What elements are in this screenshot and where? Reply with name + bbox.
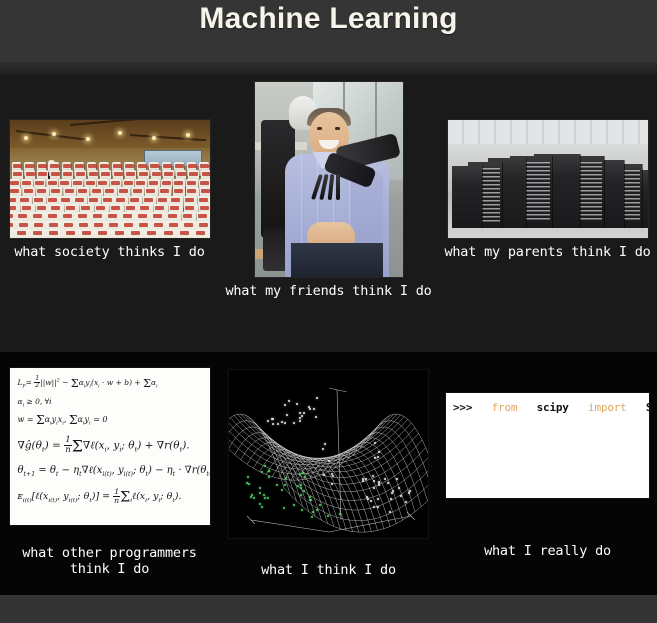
data-point <box>377 498 379 500</box>
data-point <box>365 478 367 480</box>
panel-row-bottom: LP= 12||w||2 − Σαiyi(xi · w + b) + Σαi α… <box>0 352 657 596</box>
robot-unit <box>179 229 195 238</box>
data-point <box>303 412 305 414</box>
ceiling-lamp <box>118 131 122 135</box>
equation-alpha-constraint: αi ≥ 0, ∀i <box>18 397 204 409</box>
panel-friends: what my friends think I do <box>219 76 438 338</box>
server-rack <box>452 166 482 228</box>
data-point <box>331 483 333 485</box>
data-point <box>264 497 266 499</box>
data-point <box>374 442 376 444</box>
data-point <box>373 506 375 508</box>
data-point <box>303 490 305 492</box>
header-gradient <box>0 62 657 76</box>
equation-sgd-update: θt+1 = θt − ηt∇ℓ(xi(t), yi(t); θt) − ηt … <box>18 465 204 478</box>
data-point <box>409 490 411 492</box>
data-point <box>263 494 265 496</box>
summation-sign: Σ <box>36 414 44 428</box>
data-point <box>377 506 379 508</box>
equation-list: LP= 12||w||2 − Σαiyi(xi · w + b) + Σαi α… <box>18 376 204 505</box>
summation-sign: Σ <box>72 436 83 455</box>
data-point <box>293 504 295 506</box>
data-point <box>299 473 301 475</box>
mesh-line <box>241 414 397 458</box>
ceiling-lamp <box>24 136 28 140</box>
data-point <box>302 472 304 474</box>
data-point <box>315 416 317 418</box>
panel-other-programmers: LP= 12||w||2 − Σαiyi(xi · w + b) + Σαi α… <box>0 352 219 596</box>
robot-unit <box>114 229 130 238</box>
hyperplane-mesh <box>229 414 428 532</box>
panel-row-top: what society thinks I do <box>0 76 657 338</box>
ceiling-lamp <box>86 137 90 141</box>
man-jeans <box>291 243 383 277</box>
console-code-line: >>> from scipy import SVM <box>453 401 649 414</box>
panel-society-image <box>10 120 210 238</box>
data-point <box>367 498 369 500</box>
data-point <box>391 492 393 494</box>
panel-parents-image <box>448 120 648 238</box>
python-console: >>> from scipy import SVM <box>446 393 649 498</box>
robot-unit <box>195 229 209 238</box>
data-point <box>389 511 391 513</box>
header-band: Machine Learning <box>0 0 657 62</box>
data-point <box>323 474 325 476</box>
robot-unit <box>32 229 48 238</box>
data-point <box>370 500 372 502</box>
robot-unit <box>81 229 97 238</box>
data-point <box>387 482 389 484</box>
data-point <box>288 400 290 402</box>
data-point <box>281 421 283 423</box>
panel-friends-caption: what my friends think I do <box>221 283 436 299</box>
keyword-from: from <box>492 401 518 414</box>
equation-full-gradient: ∇ĝ(θt) = 1nΣ∇ℓ(xi, yi; θt) + ∇r(θt). <box>18 436 204 455</box>
panel-parents: what my parents think I do <box>438 76 657 338</box>
data-point <box>310 499 312 501</box>
mesh-line <box>229 425 379 469</box>
data-point <box>300 484 302 486</box>
data-point <box>378 484 380 486</box>
panel-i-really-do: >>> from scipy import SVM what I really … <box>438 352 657 596</box>
panel-i-think-caption: what I think I do <box>221 562 436 578</box>
data-point <box>247 476 249 478</box>
summation-sign: Σ <box>71 377 79 390</box>
data-point <box>316 509 318 511</box>
robot-unit <box>65 229 81 238</box>
server-room-ceiling <box>448 120 648 144</box>
panel-other-programmers-caption: what other programmers think I do <box>2 545 217 577</box>
robot-assembly-hall-photo <box>10 120 210 238</box>
data-point <box>300 487 302 489</box>
data-point <box>277 423 279 425</box>
data-point <box>319 504 321 506</box>
svm-decision-surface-plot <box>229 370 428 538</box>
panel-society-caption: what society thinks I do <box>2 244 217 260</box>
data-point <box>259 487 261 489</box>
panel-society: what society thinks I do <box>0 76 219 338</box>
svm-equations-sheet: LP= 12||w||2 − Σαiyi(xi · w + b) + Σαi α… <box>10 368 210 525</box>
data-point <box>377 456 379 458</box>
data-point <box>312 511 314 513</box>
panel-formulas-image: LP= 12||w||2 − Σαiyi(xi · w + b) + Σαi α… <box>10 368 210 525</box>
robot-unit <box>163 229 179 238</box>
keyword-import: import <box>588 401 627 414</box>
panel-i-really-do-caption: what I really do <box>440 543 655 559</box>
symbol-name-svm: SVM <box>646 401 649 414</box>
data-point <box>296 403 298 405</box>
data-point <box>339 513 341 515</box>
robot-unit <box>97 229 113 238</box>
data-point <box>264 465 266 467</box>
surface-wireframe-svg <box>229 370 428 538</box>
robot-arm-fingers <box>315 174 345 202</box>
robot-unit <box>10 229 16 238</box>
robot-finger <box>327 174 334 200</box>
mesh-line <box>297 458 365 532</box>
ceiling-lamp <box>52 132 56 136</box>
data-point <box>328 460 330 462</box>
robot-finger <box>336 174 340 200</box>
panel-console-image: >>> from scipy import SVM <box>446 393 649 498</box>
panel-friends-image <box>255 82 403 277</box>
data-point <box>308 406 310 408</box>
server-room-photo <box>448 120 648 238</box>
module-name-scipy: scipy <box>537 401 569 414</box>
meme-image: Machine Learning <box>0 0 657 623</box>
data-point <box>293 422 295 424</box>
data-point <box>271 418 273 420</box>
mesh-line <box>253 446 321 520</box>
data-point <box>384 478 386 480</box>
data-point <box>313 408 315 410</box>
panel-parents-caption: what my parents think I do <box>440 244 655 260</box>
data-point <box>373 480 375 482</box>
equation-lagrangian: LP= 12||w||2 − Σαiyi(xi · w + b) + Σαi <box>18 376 204 390</box>
data-point <box>286 414 288 416</box>
ceiling-lamp <box>186 133 190 137</box>
panel-surface-image <box>229 370 428 538</box>
summation-sign: Σ <box>143 377 151 390</box>
man-eye <box>317 127 322 130</box>
man-with-robot-arm-photo <box>255 82 403 277</box>
equation-w-and-kkt: w = Σαiyixi, Σαiyi = 0 <box>18 415 204 427</box>
panel-i-think: what I think I do <box>219 352 438 596</box>
robot-unit <box>48 229 64 238</box>
robot-unit <box>16 229 32 238</box>
footer-band <box>0 595 657 623</box>
console-prompt: >>> <box>453 401 472 414</box>
man-eye <box>335 127 340 130</box>
data-point <box>400 495 402 497</box>
summation-sign: Σ <box>120 490 130 506</box>
robot-unit <box>146 229 162 238</box>
page-title: Machine Learning <box>0 2 657 36</box>
ceiling-lamp <box>152 136 156 140</box>
equation-expectation: ᴇi(t)[ℓ(xi(t), yi(t); θt)] = 1nΣiℓ(xi, y… <box>18 488 204 505</box>
robot-unit <box>130 229 146 238</box>
